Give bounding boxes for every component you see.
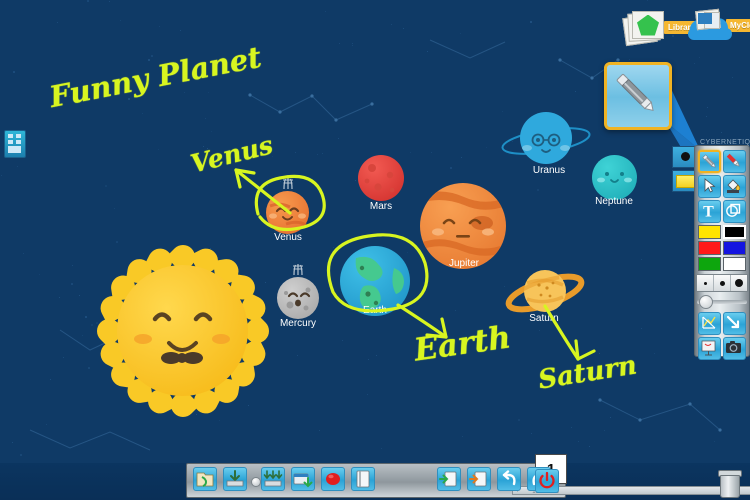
planet-label-earth: Earth [344,305,406,316]
camera-icon [724,338,743,357]
planet-mercury[interactable] [277,277,319,319]
line-width-thick[interactable] [731,275,747,291]
btn-new-board[interactable] [291,467,315,491]
planet-label-venus: Venus [257,232,319,243]
planet-label-saturn: Saturn [513,313,575,324]
handwriting-earth: Earth [412,319,513,368]
planet-uranus[interactable] [498,107,594,171]
tool-whiteboard[interactable] [698,337,721,360]
btn-record[interactable] [321,467,345,491]
line-width-selector[interactable] [696,274,748,292]
bottom-toolbar-tray: 1 ‹ › 13.188.03 [186,463,566,498]
planet-label-uranus: Uranus [518,165,580,176]
planet-venus[interactable] [266,191,309,234]
shortcut-mycloud[interactable]: MyCloud [688,10,750,40]
planet-label-mercury: Mercury [267,318,329,329]
trash-body [720,475,740,498]
color-white[interactable] [723,257,746,271]
tool-screenshot[interactable] [723,337,746,360]
import-multi-icon [262,468,284,490]
btn-undo[interactable] [497,467,521,491]
drawing-toolbar[interactable]: T [694,145,750,357]
trash-bin[interactable] [718,470,740,496]
btn-delete-page[interactable] [467,467,491,491]
pencil-icon [700,152,719,171]
handwriting-venus: Venus [188,130,276,178]
record-dot-icon [322,468,344,490]
marker-icon [724,151,743,170]
btn-clipboard[interactable] [351,467,375,491]
pen-tool-preview [604,62,672,130]
tool-text[interactable]: T [698,200,721,223]
btn-add-page[interactable] [437,467,461,491]
opacity-slider[interactable] [697,295,747,307]
btn-save-file[interactable] [223,467,247,491]
toolbar-title: CYBERNETIQ [700,139,750,146]
graph-chart-icon [699,313,718,332]
tool-shape[interactable] [723,200,746,223]
shapes-icon [724,201,743,220]
clipboard-icon [352,468,374,490]
new-slide-icon [292,468,314,490]
color-black[interactable] [723,225,746,239]
cursor-arrow-icon [699,176,718,195]
handwriting-title: Funny Planet [47,40,264,114]
planet-neptune[interactable] [592,155,637,200]
whiteboard-icon [699,338,718,357]
btn-power-exit[interactable] [535,469,559,493]
color-yellow[interactable] [698,225,721,239]
app-launcher[interactable] [4,130,26,158]
line-width-medium[interactable] [714,275,731,291]
handwriting-saturn: Saturn [536,350,639,395]
svg-text:T: T [703,204,714,221]
tool-fill[interactable] [723,175,746,198]
color-blue[interactable] [723,241,746,255]
planet-label-jupiter: Jupiter [433,258,495,269]
screen: Mercury Venus [0,0,750,500]
undo-arrow-icon [498,468,520,490]
arrow-pointer-icon [724,313,743,332]
power-icon [536,470,558,492]
save-down-icon [224,468,246,490]
page-remove-icon [468,468,490,490]
page-add-icon [438,468,460,490]
planet-sun[interactable] [95,243,270,418]
folder-open-icon [194,468,216,490]
slider-knob[interactable] [699,295,713,309]
btn-open-file[interactable] [193,467,217,491]
planet-jupiter[interactable] [420,183,506,269]
tool-marker[interactable] [723,150,746,173]
color-green[interactable] [698,257,721,271]
paint-bucket-icon [724,176,743,195]
tool-pointer[interactable] [723,312,746,335]
planet-mars[interactable] [358,155,404,201]
planet-label-neptune: Neptune [583,196,645,207]
tool-select[interactable] [698,175,721,198]
toolbar-separator-dot [251,477,261,487]
planet-label-mars: Mars [350,201,412,212]
tool-pen[interactable] [698,150,721,173]
cloud-upload-icon [688,10,732,40]
bottom-toolbar[interactable]: 1 ‹ › 13.188.03 [0,463,750,500]
text-t-icon: T [699,201,718,220]
btn-import-all[interactable] [261,467,285,491]
photo-stack-icon [624,10,670,44]
color-red[interactable] [698,241,721,255]
tool-graph[interactable] [698,312,721,335]
sun-core [117,265,248,396]
line-width-thin[interactable] [697,275,714,291]
